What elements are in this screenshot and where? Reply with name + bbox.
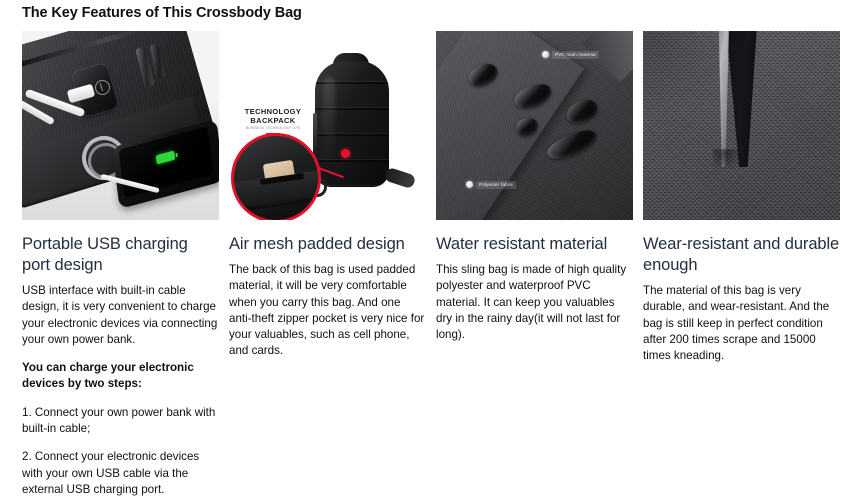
image-caption-subtitle: BUSINESS TECHNOLOGY LIFE — [235, 125, 311, 131]
feature-grid: Portable USB charging port design USB in… — [22, 31, 840, 498]
feature-image-water-resistant: PVC main material Polyester fabric — [436, 31, 633, 220]
image-caption-line-1: TECHNOLOGY — [235, 107, 311, 116]
label-marker-dot-icon — [542, 51, 549, 58]
page-title: The Key Features of This Crossbody Bag — [22, 5, 302, 21]
water-droplet — [544, 126, 600, 164]
feature-paragraph: The material of this bag is very durable… — [643, 283, 840, 364]
callout-detail-circle — [231, 133, 321, 220]
image-caption-technology-backpack: TECHNOLOGY BACKPACK BUSINESS TECHNOLOGY … — [235, 107, 311, 135]
shoulder-strap-shape — [384, 167, 417, 190]
bag-zipper-shape — [313, 113, 317, 155]
image-caption-line-2: BACKPACK — [235, 116, 311, 125]
feature-paragraph: The back of this bag is used padded mate… — [229, 262, 426, 360]
callout-marker-dot — [341, 149, 350, 158]
image-label-text: Polyester fabric — [476, 181, 516, 189]
feature-heading-usb-charging: Portable USB charging port design — [22, 234, 219, 276]
feature-heading-air-mesh: Air mesh padded design — [229, 234, 426, 255]
image-label-text: PVC main material — [552, 51, 599, 59]
image-caption-accent-bar — [266, 133, 280, 135]
feature-column-water-resistant: PVC main material Polyester fabric Water… — [436, 31, 633, 498]
blade-contact-shadow-shape — [713, 149, 743, 171]
feature-paragraph: 1. Connect your own power bank with buil… — [22, 405, 219, 438]
feature-column-usb-charging: Portable USB charging port design USB in… — [22, 31, 219, 498]
bag-highlight-shape — [323, 77, 335, 169]
feature-image-wear-resistant — [643, 31, 840, 220]
feature-heading-water-resistant: Water resistant material — [436, 234, 633, 255]
feature-column-air-mesh: TECHNOLOGY BACKPACK BUSINESS TECHNOLOGY … — [229, 31, 426, 498]
image-label-pvc-material: PVC main material — [542, 51, 599, 59]
image-label-polyester-fabric: Polyester fabric — [466, 181, 516, 189]
feature-body-usb-charging: USB interface with built-in cable design… — [22, 283, 219, 498]
feature-paragraph-bold: You can charge your electronic devices b… — [22, 360, 219, 393]
feature-column-wear-resistant: Wear-resistant and durable enough The ma… — [643, 31, 840, 498]
feature-section: The Key Features of This Crossbody Bag — [0, 0, 860, 467]
fabric-fold-shape — [436, 31, 584, 220]
label-marker-dot-icon — [466, 181, 473, 188]
feature-paragraph: This sling bag is made of high quality p… — [436, 262, 633, 343]
feature-image-air-mesh: TECHNOLOGY BACKPACK BUSINESS TECHNOLOGY … — [229, 31, 426, 220]
feature-body-water-resistant: This sling bag is made of high quality p… — [436, 262, 633, 343]
sling-bag-shape — [315, 61, 389, 187]
feature-image-usb-charging — [22, 31, 219, 220]
feature-paragraph: USB interface with built-in cable design… — [22, 283, 219, 348]
feature-body-wear-resistant: The material of this bag is very durable… — [643, 283, 840, 364]
feature-paragraph: 2. Connect your electronic devices with … — [22, 449, 219, 498]
water-droplet — [563, 96, 600, 127]
feature-heading-wear-resistant: Wear-resistant and durable enough — [643, 234, 840, 276]
feature-body-air-mesh: The back of this bag is used padded mate… — [229, 262, 426, 360]
